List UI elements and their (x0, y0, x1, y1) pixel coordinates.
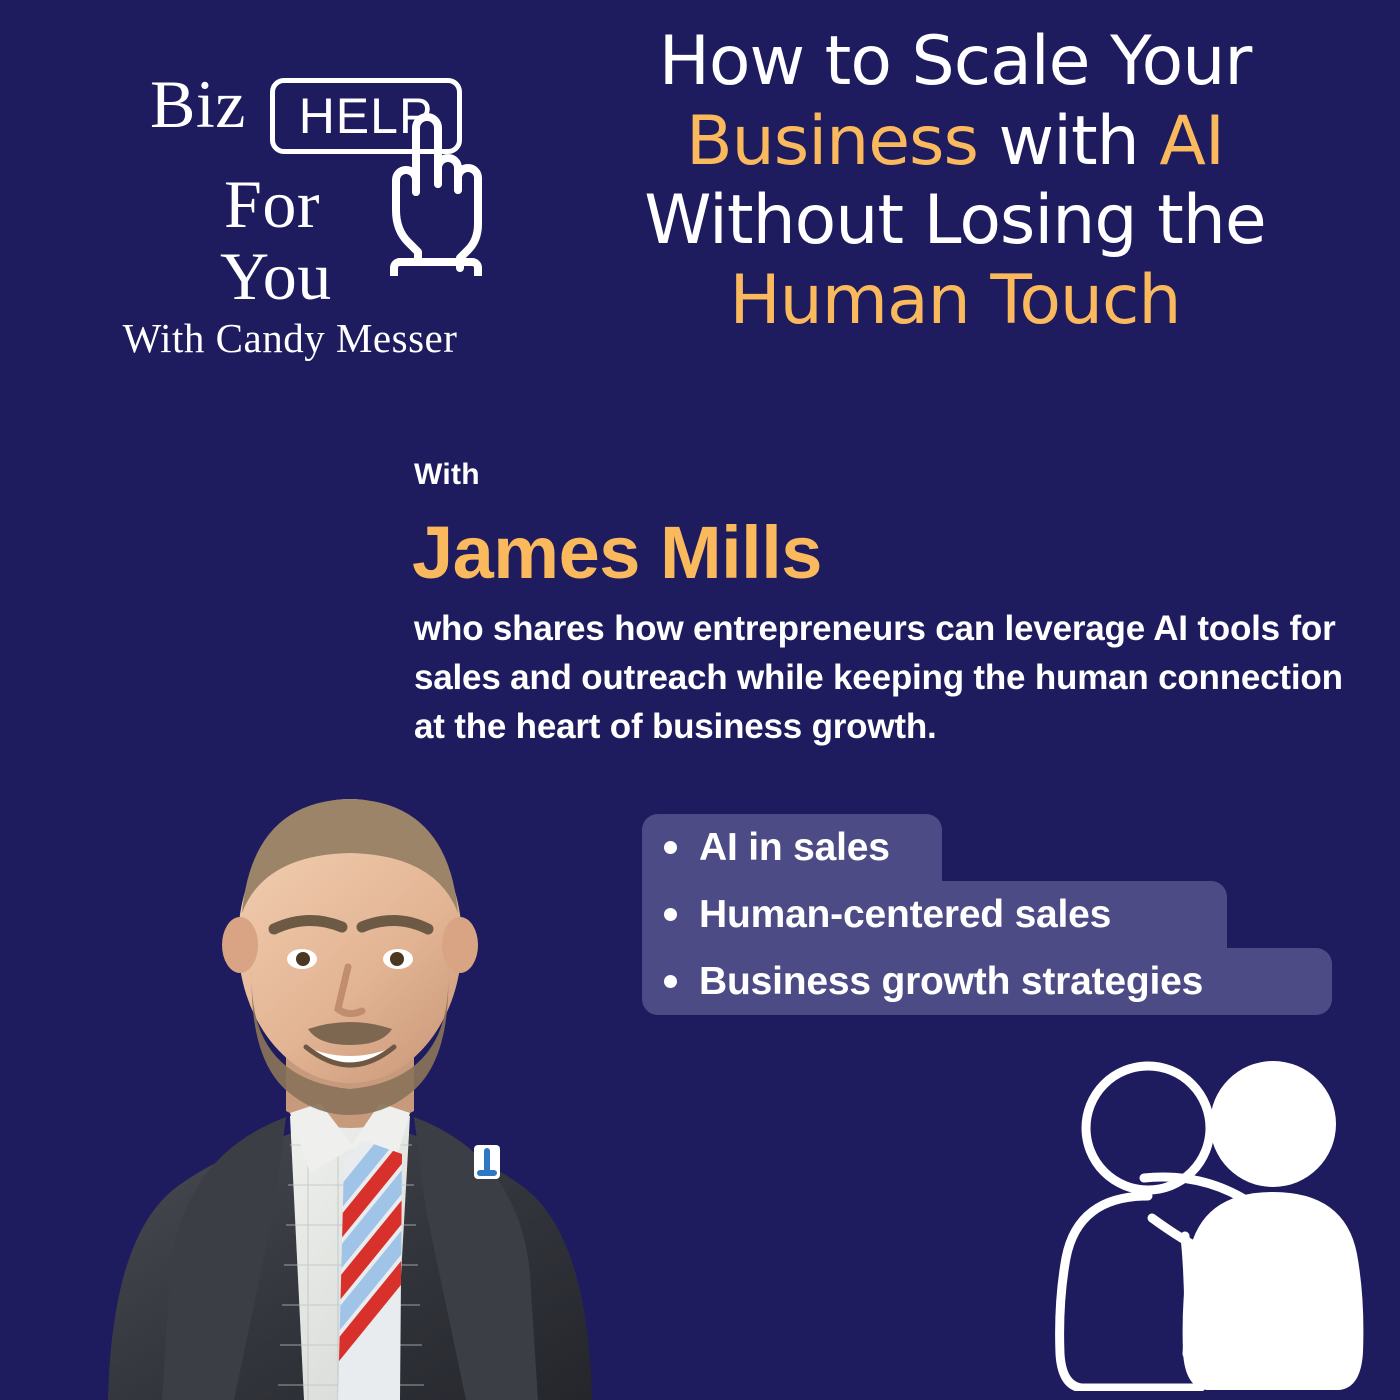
headline-accent-ai: AI (1159, 102, 1224, 181)
topic-list: AI in sales Human-centered sales Busines… (642, 814, 1342, 1015)
bullet-icon (664, 841, 677, 854)
topic-item[interactable]: Business growth strategies (642, 948, 1332, 1015)
headline-line-2: Business with AI (560, 102, 1350, 182)
logo-host-line: With Candy Messer (80, 318, 500, 359)
guest-name: James Mills (412, 510, 822, 595)
podcast-logo: Biz HELP For You With Candy Messer (72, 30, 502, 350)
logo-word-biz: Biz (150, 70, 246, 138)
topic-label: AI in sales (699, 826, 890, 870)
logo-word-you: You (220, 242, 332, 310)
bullet-icon (664, 908, 677, 921)
lapel-pin-icon (474, 1145, 500, 1179)
topic-label: Human-centered sales (699, 893, 1111, 937)
guest-with-label: With (414, 458, 480, 492)
bullet-icon (664, 975, 677, 988)
topic-item[interactable]: Human-centered sales (642, 881, 1227, 948)
topic-label: Business growth strategies (699, 960, 1203, 1004)
headline-accent-business: Business (686, 102, 978, 181)
headline-line-3: Without Losing the (560, 181, 1350, 261)
headline-line-1: How to Scale Your (560, 22, 1350, 102)
headline-line-2-mid: with (978, 102, 1160, 181)
pointing-hand-icon (372, 106, 492, 276)
headline-line-4: Human Touch (560, 261, 1350, 341)
guest-description: who shares how entrepreneurs can leverag… (414, 604, 1354, 751)
podcast-episode-graphic: Biz HELP For You With Candy Messer How t… (0, 0, 1400, 1400)
logo-word-for: For (224, 170, 320, 238)
guest-headshot-photo (0, 745, 650, 1400)
two-people-supporting-icon (1048, 1046, 1378, 1391)
topic-item[interactable]: AI in sales (642, 814, 942, 881)
episode-headline: How to Scale Your Business with AI Witho… (560, 22, 1350, 340)
